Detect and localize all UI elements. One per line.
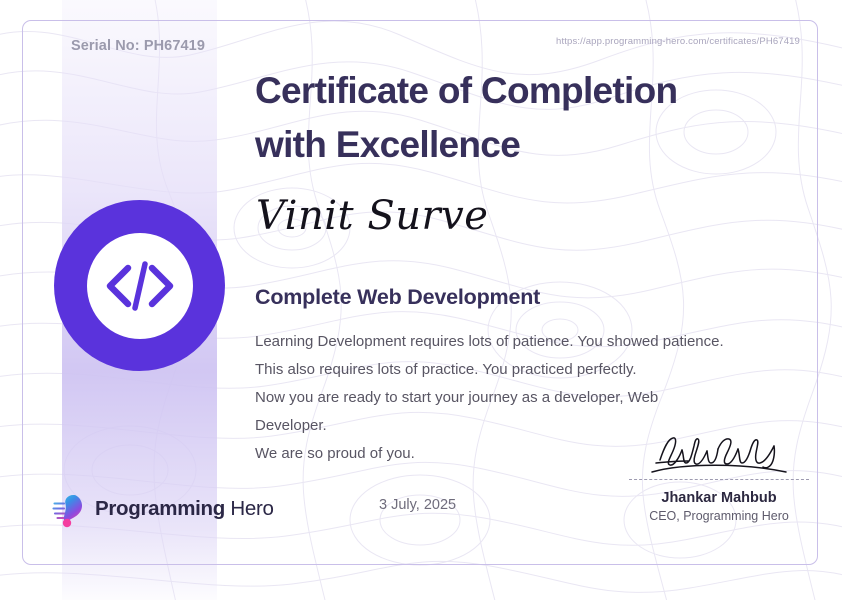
handwritten-signature-icon [644,432,794,476]
programming-hero-droplet-logo [52,490,86,528]
signatory-name: Jhankar Mahbub [629,490,809,506]
brand-logo: Programming Hero [52,490,274,528]
title-line-2: with Excellence [255,118,815,172]
signature-block: Jhankar Mahbub CEO, Programming Hero [629,432,809,523]
page-title: Certificate of Completion with Excellenc… [255,64,815,173]
brand-name: Programming Hero [95,497,274,521]
course-name: Complete Web Development [255,285,540,310]
serial-number: Serial No: PH67419 [71,38,205,54]
signatory-role: CEO, Programming Hero [629,509,809,523]
body-line: Learning Development requires lots of pa… [255,328,823,356]
code-badge-inner [87,233,193,339]
certificate-card: Serial No: PH67419 https://app.programmi… [0,0,842,600]
issue-date: 3 July, 2025 [379,497,456,513]
brand-name-light: Hero [230,497,273,520]
verification-url[interactable]: https://app.programming-hero.com/certifi… [556,36,800,47]
brand-name-bold: Programming [95,497,225,520]
recipient-name: Vinit Surve [256,193,488,239]
body-line: Now you are ready to start your journey … [255,384,823,412]
signature-divider [629,479,809,480]
code-brackets-icon [104,261,176,311]
code-badge [54,200,225,371]
title-line-1: Certificate of Completion [255,64,815,118]
body-line: This also requires lots of practice. You… [255,356,823,384]
